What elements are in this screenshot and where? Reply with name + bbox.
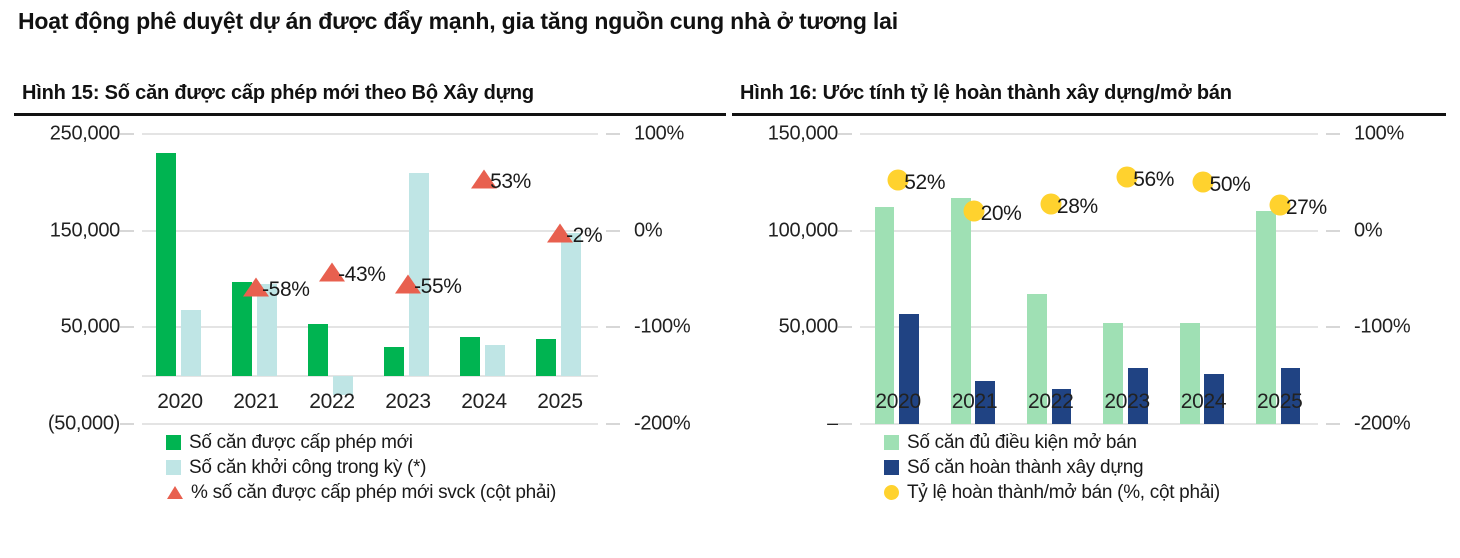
bar-secondary[interactable] (561, 233, 581, 376)
y-axis-tick-mark (120, 230, 134, 232)
figure-16-left-axis: 150,000100,00050,000– (732, 134, 852, 424)
legend-square-icon (166, 460, 181, 475)
plot-columns: 52%20%28%56%50%27% (860, 134, 1318, 424)
secondary-y-axis-tick-label: 100% (634, 123, 684, 146)
x-axis-tick-label: 2022 (294, 390, 370, 414)
y-axis-tick-label: 50,000 (61, 316, 120, 339)
figure-15-legend: Số căn được cấp phép mớiSố căn khởi công… (14, 430, 726, 505)
y-axis-tick-mark (120, 423, 134, 425)
plot-column: 56% (1089, 134, 1165, 424)
figure-15-x-axis: 202020212022202320242025 (142, 390, 598, 414)
bar-secondary[interactable] (485, 345, 505, 376)
plot-column: 20% (936, 134, 1012, 424)
plot-column: 27% (1242, 134, 1318, 424)
secondary-y-axis-tick-mark (606, 133, 620, 135)
x-axis-tick-label: 2023 (1089, 390, 1165, 414)
figure-15-plot: 250,000150,00050,000(50,000) 100%0%-100%… (14, 134, 726, 424)
x-axis-tick-label: 2025 (1242, 390, 1318, 414)
y-axis-tick-mark (120, 133, 134, 135)
bar-primary[interactable] (308, 324, 328, 375)
legend-dot-icon (884, 485, 899, 500)
figure-16-panel: Hình 16: Ước tính tỷ lệ hoàn thành xây d… (732, 82, 1446, 558)
legend-item-label: Số căn đủ điều kiện mở bán (907, 432, 1137, 454)
data-point-label: -2% (566, 224, 602, 248)
plot-column: 28% (1013, 134, 1089, 424)
x-axis-tick-label: 2020 (142, 390, 218, 414)
legend-item[interactable]: Số căn đủ điều kiện mở bán (884, 430, 1446, 455)
figure-16-legend: Số căn đủ điều kiện mở bánSố căn hoàn th… (732, 430, 1446, 505)
legend-item-label: Số căn được cấp phép mới (189, 432, 413, 454)
y-axis-tick-mark (838, 133, 852, 135)
legend-item-label: Số căn khởi công trong kỳ (*) (189, 457, 426, 479)
plot-column: -2% (522, 134, 598, 424)
secondary-y-axis-tick-label: 100% (1354, 123, 1404, 146)
page-title: Hoạt động phê duyệt dự án được đẩy mạnh,… (18, 8, 898, 35)
secondary-y-axis-tick-mark (1326, 230, 1340, 232)
figure-15-canvas: -58%-43%-55%53%-2% (142, 134, 598, 424)
figure-15-title: Hình 15: Số căn được cấp phép mới theo B… (14, 82, 726, 105)
x-axis-tick-label: 2024 (1165, 390, 1241, 414)
figure-15-rule (14, 113, 726, 116)
legend-item[interactable]: Số căn khởi công trong kỳ (*) (166, 455, 726, 480)
legend-item-label: Tỷ lệ hoàn thành/mở bán (%, cột phải) (907, 482, 1220, 504)
plot-column (142, 134, 218, 424)
figure-16-right-axis: 100%0%-100%-200% (1326, 134, 1446, 424)
y-axis-tick-label: 150,000 (768, 123, 838, 146)
data-point-label: 27% (1286, 196, 1327, 220)
secondary-y-axis-tick-mark (606, 423, 620, 425)
plot-column: -55% (370, 134, 446, 424)
y-axis-tick-mark (838, 230, 852, 232)
legend-item[interactable]: Số căn hoàn thành xây dựng (884, 455, 1446, 480)
plot-column: 52% (860, 134, 936, 424)
plot-column: 53% (446, 134, 522, 424)
secondary-y-axis-tick-mark (606, 230, 620, 232)
secondary-y-axis-tick-mark (1326, 423, 1340, 425)
x-axis-tick-label: 2023 (370, 390, 446, 414)
x-axis-tick-label: 2024 (446, 390, 522, 414)
figure-15-left-axis: 250,000150,00050,000(50,000) (14, 134, 134, 424)
x-axis-tick-label: 2020 (860, 390, 936, 414)
figure-16-title: Hình 16: Ước tính tỷ lệ hoàn thành xây d… (732, 82, 1446, 105)
y-axis-tick-label: 150,000 (50, 219, 120, 242)
x-axis-tick-label: 2025 (522, 390, 598, 414)
secondary-y-axis-tick-label: 0% (634, 219, 662, 242)
legend-triangle-icon (167, 486, 183, 499)
legend-item-label: Số căn hoàn thành xây dựng (907, 457, 1143, 479)
y-axis-tick-mark (838, 423, 852, 425)
legend-square-icon (884, 435, 899, 450)
secondary-y-axis-tick-mark (1326, 133, 1340, 135)
bar-secondary[interactable] (181, 310, 201, 376)
figure-16-canvas: 52%20%28%56%50%27% (860, 134, 1318, 424)
y-axis-tick-label: 250,000 (50, 123, 120, 146)
x-axis-tick-label: 2022 (1013, 390, 1089, 414)
figure-15-panel: Hình 15: Số căn được cấp phép mới theo B… (14, 82, 726, 558)
secondary-y-axis-tick-mark (1326, 326, 1340, 328)
bar-primary[interactable] (536, 339, 556, 376)
x-axis-tick-label: 2021 (218, 390, 294, 414)
plot-column: 50% (1165, 134, 1241, 424)
legend-item[interactable]: Tỷ lệ hoàn thành/mở bán (%, cột phải) (884, 480, 1446, 505)
bar-primary[interactable] (384, 347, 404, 376)
figure-16-rule (732, 113, 1446, 116)
legend-item[interactable]: Số căn được cấp phép mới (166, 430, 726, 455)
secondary-y-axis-tick-label: -100% (634, 316, 690, 339)
bar-primary[interactable] (460, 337, 480, 376)
legend-item-label: % số căn được cấp phép mới svck (cột phả… (191, 482, 556, 504)
secondary-y-axis-tick-label: -100% (1354, 316, 1410, 339)
figure-15-right-axis: 100%0%-100%-200% (606, 134, 726, 424)
legend-item[interactable]: % số căn được cấp phép mới svck (cột phả… (166, 480, 726, 505)
plot-columns: -58%-43%-55%53%-2% (142, 134, 598, 424)
y-axis-tick-mark (120, 326, 134, 328)
legend-square-icon (166, 435, 181, 450)
plot-column: -58% (218, 134, 294, 424)
y-axis-tick-label: 50,000 (779, 316, 838, 339)
figure-16-plot: 150,000100,00050,000– 100%0%-100%-200% 5… (732, 134, 1446, 424)
figure-16-x-axis: 202020212022202320242025 (860, 390, 1318, 414)
x-axis-tick-label: 2021 (936, 390, 1012, 414)
legend-square-icon (884, 460, 899, 475)
y-axis-tick-label: 100,000 (768, 219, 838, 242)
plot-column: -43% (294, 134, 370, 424)
figure-page: Hoạt động phê duyệt dự án được đẩy mạnh,… (0, 0, 1460, 558)
secondary-y-axis-tick-mark (606, 326, 620, 328)
bar-primary[interactable] (156, 153, 176, 375)
y-axis-tick-mark (838, 326, 852, 328)
secondary-y-axis-tick-label: 0% (1354, 219, 1382, 242)
